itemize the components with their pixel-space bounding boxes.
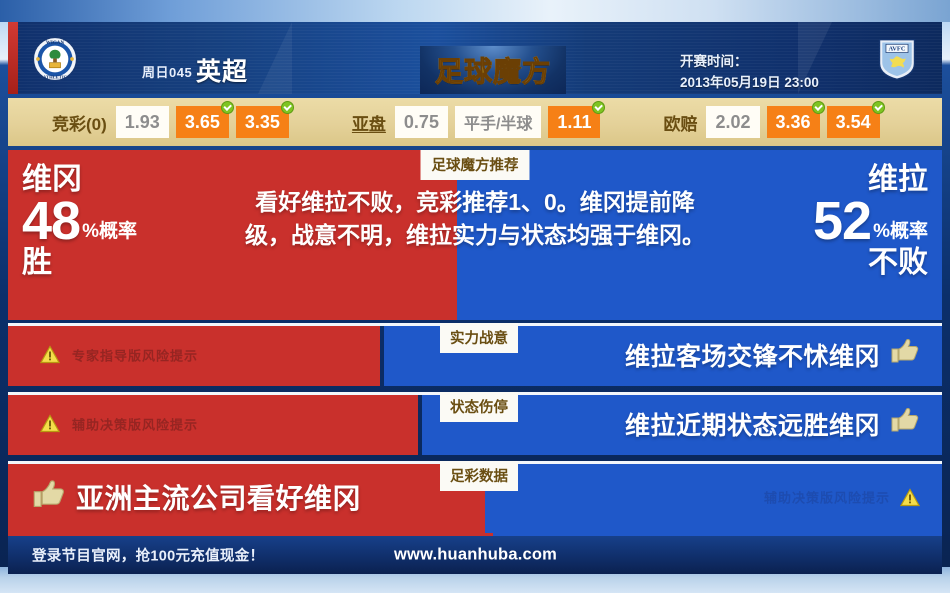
warning-triangle-icon — [900, 488, 920, 506]
league-name: 英超 — [196, 52, 248, 88]
away-probability: 维拉 52 %概率 不败 — [813, 164, 928, 279]
row1-risk-note: 专家指导版风险提示 — [40, 345, 198, 364]
odds-value: 0.75 — [404, 112, 439, 133]
row3-message-text: 亚洲主流公司看好维冈 — [76, 477, 361, 517]
svg-text:AVFC: AVFC — [888, 46, 905, 53]
footer-promo-text: 登录节目官网，抢100元充值现金！ — [32, 545, 264, 566]
check-badge-icon — [812, 101, 825, 114]
thumbs-up-icon — [890, 338, 920, 371]
odds-cell-jingcai-1[interactable]: 1.93 — [116, 106, 169, 138]
brand-logo-text: 足球魔方 — [435, 50, 551, 90]
row3-risk-text: 辅助决策版风险提示 — [764, 488, 890, 507]
row3-tag: 足彩数据 — [440, 461, 518, 491]
match-number: 周日045 — [142, 62, 192, 81]
odds-value: 2.02 — [715, 112, 750, 133]
odds-label-yapan: 亚盘 — [352, 110, 386, 135]
kickoff-block: 开赛时间： 2013年05月19日 23:00 — [680, 52, 819, 94]
row1-tag: 实力战意 — [440, 323, 518, 353]
row3-message: 亚洲主流公司看好维冈 — [32, 477, 361, 517]
row2-message: 维拉近期状态远胜维冈 — [625, 406, 920, 442]
odds-cell-oupei-3[interactable]: 3.54 — [827, 106, 880, 138]
odds-label-oupei: 欧赔 — [663, 110, 697, 135]
svg-text:ATHLETIC: ATHLETIC — [43, 74, 67, 79]
odds-value: 3.54 — [836, 112, 871, 133]
odds-value: 1.93 — [125, 112, 160, 133]
odds-cell-oupei-1[interactable]: 2.02 — [706, 106, 759, 138]
away-probability-unit: %概率 — [871, 222, 928, 248]
odds-group-jingcai: 竞彩(0) 1.93 3.65 3.35 — [52, 98, 296, 146]
header-red-accent — [8, 22, 18, 94]
check-badge-icon — [221, 101, 234, 114]
row1-message-text: 维拉客场交锋不怵维冈 — [625, 337, 880, 373]
odds-bar: 竞彩(0) 1.93 3.65 3.35 亚盘 0.75 平手/半球 — [8, 98, 942, 146]
warning-triangle-icon — [40, 346, 60, 364]
odds-value: 3.65 — [185, 112, 220, 133]
odds-value: 3.36 — [776, 112, 811, 133]
match-header: WIGAN ATHLETIC AVFC 周日045 英超 足球魔方 开赛时间： … — [8, 22, 942, 94]
home-probability-unit: %概率 — [80, 222, 137, 248]
home-probability-number: 48 — [22, 194, 80, 248]
top-sky-gradient — [0, 0, 950, 22]
footer-url[interactable]: www.huanhuba.com — [394, 546, 557, 565]
odds-cell-jingcai-3[interactable]: 3.35 — [236, 106, 289, 138]
row-strength-intent: 专家指导版风险提示 实力战意 维拉客场交锋不怵维冈 — [8, 323, 942, 386]
row2-risk-note: 辅助决策版风险提示 — [40, 414, 198, 433]
kickoff-label: 开赛时间： — [680, 52, 819, 73]
footer-bar: 登录节目官网，抢100元充值现金！ www.huanhuba.com — [8, 536, 942, 574]
row1-message: 维拉客场交锋不怵维冈 — [625, 337, 920, 373]
odds-group-oupei: 欧赔 2.02 3.36 3.54 — [663, 98, 886, 146]
probability-band: 维冈 48 %概率 胜 维拉 52 %概率 不败 足球魔方推荐 看好维拉不败，竞… — [8, 150, 942, 320]
row3-risk-note: 辅助决策版风险提示 — [764, 488, 920, 507]
recommendation-badge: 足球魔方推荐 — [421, 150, 530, 180]
brand-logo: 足球魔方 — [420, 46, 566, 94]
aston-villa-crest-icon: AVFC — [874, 36, 920, 82]
home-probability: 维冈 48 %概率 胜 — [22, 164, 137, 279]
odds-cell-jingcai-2[interactable]: 3.65 — [176, 106, 229, 138]
away-probability-number: 52 — [813, 194, 871, 248]
odds-cell-yapan-1[interactable]: 0.75 — [395, 106, 448, 138]
svg-text:WIGAN: WIGAN — [46, 40, 65, 46]
check-badge-icon — [592, 101, 605, 114]
odds-cell-oupei-2[interactable]: 3.36 — [767, 106, 820, 138]
warning-triangle-icon — [40, 415, 60, 433]
row-lottery-data: 亚洲主流公司看好维冈 足彩数据 辅助决策版风险提示 — [8, 461, 942, 533]
wigan-athletic-crest-icon: WIGAN ATHLETIC — [32, 36, 78, 82]
odds-label-jingcai: 竞彩(0) — [52, 110, 107, 135]
odds-cell-yapan-handicap[interactable]: 平手/半球 — [455, 106, 541, 138]
thumbs-up-icon — [32, 479, 66, 516]
away-probability-value: 52 %概率 — [813, 194, 928, 248]
row-form-injury: 辅助决策版风险提示 状态伤停 维拉近期状态远胜维冈 — [8, 392, 942, 455]
home-probability-value: 48 %概率 — [22, 194, 137, 248]
row2-tag: 状态伤停 — [440, 392, 518, 422]
odds-value: 3.35 — [245, 112, 280, 133]
row1-risk-text: 专家指导版风险提示 — [72, 345, 198, 364]
match-preview-graphic: WIGAN ATHLETIC AVFC 周日045 英超 足球魔方 开赛时间： … — [0, 0, 950, 593]
header-diagonal-left — [258, 22, 292, 94]
odds-cell-yapan-3[interactable]: 1.11 — [548, 106, 600, 138]
thumbs-up-icon — [890, 407, 920, 440]
check-badge-icon — [281, 101, 294, 114]
odds-group-yapan: 亚盘 0.75 平手/半球 1.11 — [352, 98, 608, 146]
kickoff-value: 2013年05月19日 23:00 — [680, 73, 819, 94]
row2-risk-text: 辅助决策版风险提示 — [72, 414, 198, 433]
odds-value: 平手/半球 — [464, 110, 532, 134]
check-badge-icon — [872, 101, 885, 114]
odds-value: 1.11 — [557, 112, 591, 133]
recommendation-text: 看好维拉不败，竞彩推荐1、0。维冈提前降级，战意不明，维拉实力与状态均强于维冈。 — [240, 186, 710, 251]
row2-message-text: 维拉近期状态远胜维冈 — [625, 406, 880, 442]
